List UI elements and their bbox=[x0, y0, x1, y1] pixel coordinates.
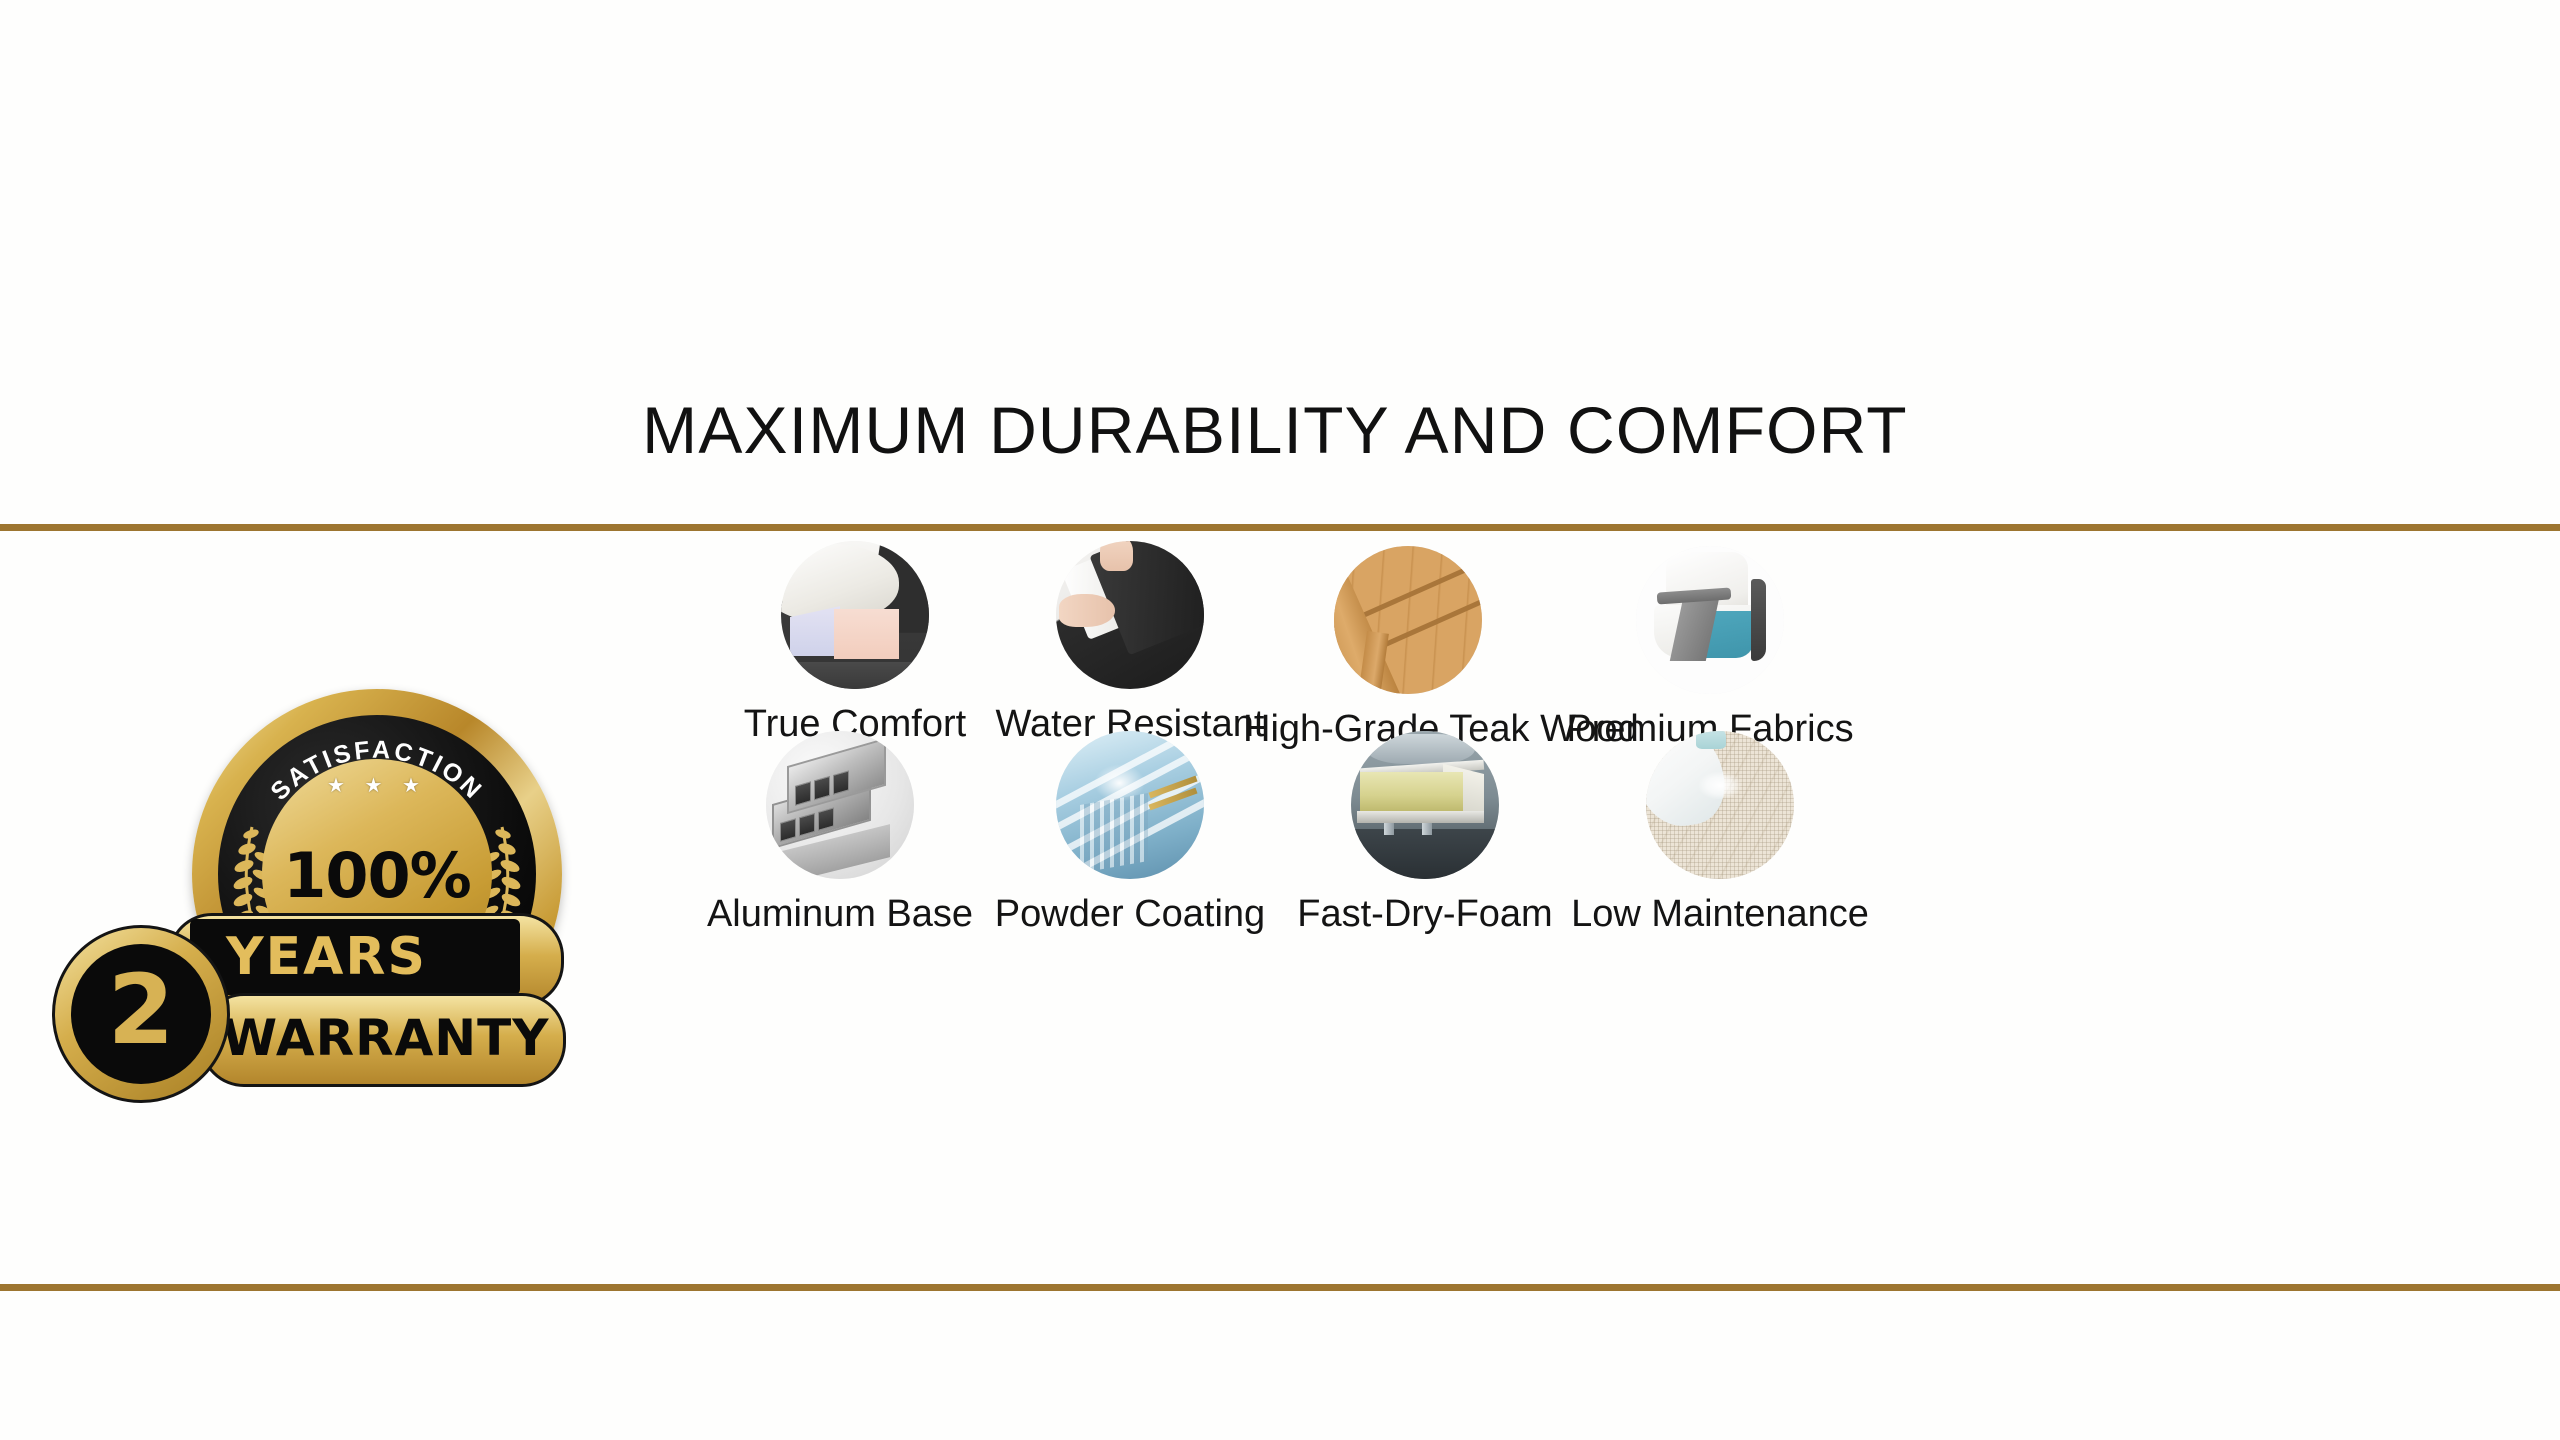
seal-stars-top: ★ ★ ★ bbox=[192, 773, 562, 798]
ribbon-warranty-label: WARRANTY bbox=[222, 1003, 562, 1073]
coating-facility-icon bbox=[1056, 731, 1204, 879]
foam-press-icon bbox=[1351, 731, 1499, 879]
feature-grid: True Comfort Water Resistant bbox=[690, 541, 2550, 1281]
feature-aluminum-base[interactable]: Aluminum Base bbox=[675, 731, 1005, 936]
page-title: MAXIMUM DURABILITY AND COMFORT bbox=[642, 392, 1908, 468]
slide-root: MAXIMUM DURABILITY AND COMFORT SATISFACT… bbox=[0, 0, 2560, 1440]
warranty-badge: SATISFACTION GUAR bbox=[30, 681, 620, 1181]
feature-low-maintenance[interactable]: Low Maintenance bbox=[1555, 731, 1885, 936]
teak-wood-joint-icon bbox=[1334, 546, 1482, 694]
content-band: SATISFACTION GUAR bbox=[0, 531, 2560, 1284]
feature-powder-coating[interactable]: Powder Coating bbox=[965, 731, 1295, 936]
warranty-ribbon: YEARS WARRANTY 2 bbox=[50, 911, 560, 1086]
feature-fast-dry-foam[interactable]: Fast-Dry-Foam bbox=[1260, 731, 1590, 936]
ribbon-number-label: 2 bbox=[108, 962, 175, 1058]
feature-high-grade-teak-wood[interactable]: High-Grade Teak Wood bbox=[1243, 546, 1573, 751]
feature-label: Fast-Dry-Foam bbox=[1260, 893, 1590, 936]
feature-label: Low Maintenance bbox=[1555, 893, 1885, 936]
liquid-on-fabric-icon bbox=[1646, 731, 1794, 879]
feature-premium-fabrics[interactable]: Premium Fabrics bbox=[1545, 546, 1875, 751]
divider-top bbox=[0, 524, 2560, 531]
upholstered-chair-icon bbox=[1636, 546, 1784, 694]
seal-percent-label: 100% bbox=[283, 845, 471, 907]
divider-bottom bbox=[0, 1284, 2560, 1291]
ribbon-number-disc: 2 bbox=[71, 944, 211, 1084]
title-area: MAXIMUM DURABILITY AND COMFORT bbox=[0, 345, 2560, 515]
ribbon-number-circle: 2 bbox=[52, 925, 230, 1103]
feature-label: Powder Coating bbox=[965, 893, 1295, 936]
feature-label: Aluminum Base bbox=[675, 893, 1005, 936]
aluminum-tubes-icon bbox=[766, 731, 914, 879]
ribbon-years-label: YEARS bbox=[226, 925, 506, 989]
fabric-cover-peel-icon bbox=[1056, 541, 1204, 689]
mattress-layers-icon bbox=[781, 541, 929, 689]
